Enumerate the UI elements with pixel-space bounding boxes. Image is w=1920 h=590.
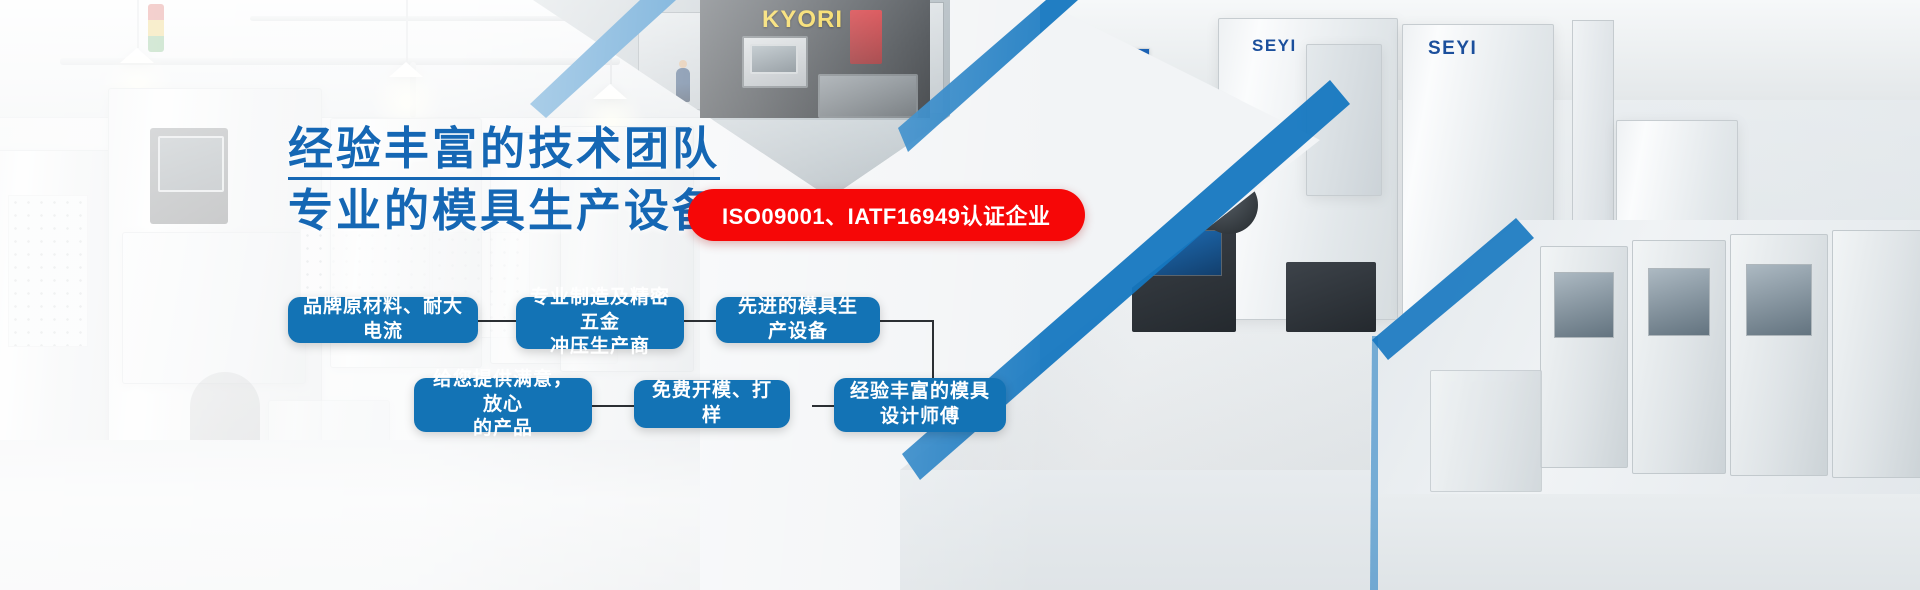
- flow-box-materials-label: 品牌原材料、耐大电流: [302, 295, 464, 344]
- certification-badge-text: ISO09001、IATF16949认证企业: [722, 199, 1051, 231]
- connector-bottom-1-2: [592, 405, 634, 407]
- flow-box-materials[interactable]: 品牌原材料、耐大电流: [288, 297, 478, 343]
- flow-box-free-mold-label: 免费开模、打样: [648, 379, 776, 428]
- flow-box-satisfaction-label: 给您提供满意，放心的产品: [428, 368, 578, 442]
- flow-box-equipment[interactable]: 先进的模具生产设备: [716, 297, 880, 343]
- factory-promo-banner: KYORI SEYI SEYI: [0, 0, 1920, 590]
- headline-line-1-wrap: 经验丰富的技术团队: [288, 122, 908, 180]
- flow-box-free-mold[interactable]: 免费开模、打样: [634, 380, 790, 428]
- connector-top-2-3: [684, 320, 716, 322]
- certification-badge: ISO09001、IATF16949认证企业: [688, 189, 1085, 241]
- flow-box-designers-label: 经验丰富的模具设计师傅: [850, 380, 990, 429]
- banner-content: 经验丰富的技术团队 专业的模具生产设备 ISO09001、IATF16949认证…: [0, 0, 1920, 590]
- flow-box-equipment-label: 先进的模具生产设备: [730, 295, 866, 344]
- flow-box-manufacturing-label: 专业制造及精密五金冲压生产商: [530, 286, 670, 360]
- connector-top-1-2: [478, 320, 516, 322]
- flow-box-satisfaction[interactable]: 给您提供满意，放心的产品: [414, 378, 592, 432]
- headline-line-1: 经验丰富的技术团队: [288, 122, 720, 180]
- flow-box-manufacturing[interactable]: 专业制造及精密五金冲压生产商: [516, 297, 684, 349]
- flow-box-designers[interactable]: 经验丰富的模具设计师傅: [834, 378, 1006, 432]
- connector-top-3-right: [880, 320, 932, 322]
